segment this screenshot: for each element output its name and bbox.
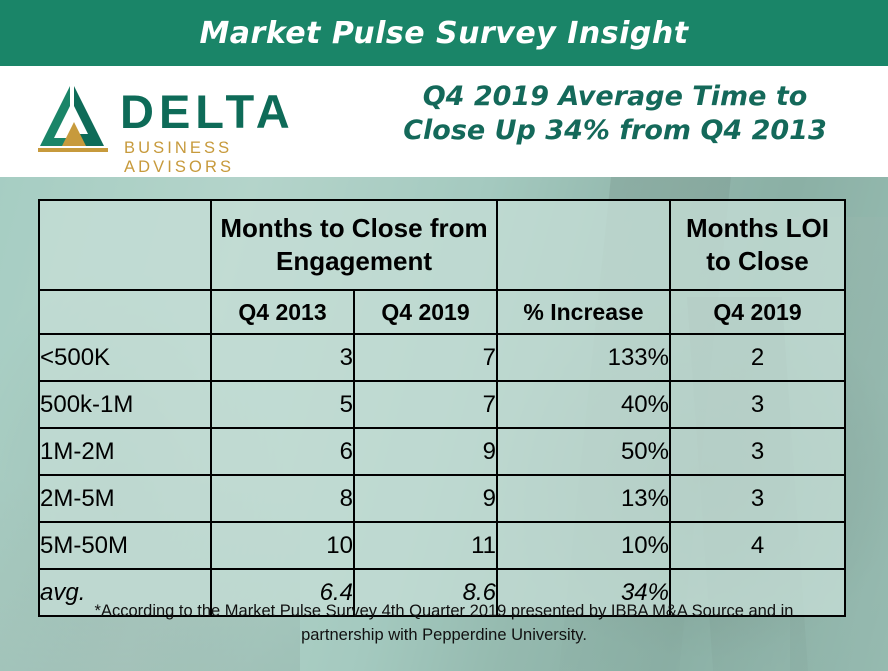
logo-wordmark: DELTA	[120, 84, 295, 139]
cell-q4-2013: 6	[211, 428, 354, 475]
cell-q4-2019: 11	[354, 522, 497, 569]
table-row: <500K 3 7 133% 2	[39, 334, 845, 381]
footnote-line-2: partnership with Pepperdine University.	[38, 624, 850, 648]
table-group-header-row: Months to Close from Engagement Months L…	[39, 200, 845, 290]
cell-pct-increase: 50%	[497, 428, 670, 475]
table-sub-header-row: Q4 2013 Q4 2019 % Increase Q4 2019	[39, 290, 845, 334]
table-row: 500k-1M 5 7 40% 3	[39, 381, 845, 428]
headline-line-1: Q4 2019 Average Time to	[360, 80, 870, 114]
delta-triangle-logo-icon	[36, 82, 110, 152]
sub-header-pct-increase: % Increase	[497, 290, 670, 334]
page-title: Q4 2019 Average Time to Close Up 34% fro…	[360, 80, 870, 148]
cell-loi-q4-2019: 2	[670, 334, 845, 381]
row-label: 1M-2M	[39, 428, 211, 475]
cell-q4-2019: 7	[354, 381, 497, 428]
group-header-pct-blank	[497, 200, 670, 290]
group-header-months-to-close: Months to Close from Engagement	[211, 200, 497, 290]
cell-q4-2013: 5	[211, 381, 354, 428]
group-header-blank	[39, 200, 211, 290]
table-row: 2M-5M 8 9 13% 3	[39, 475, 845, 522]
content-area: Months to Close from Engagement Months L…	[0, 177, 888, 671]
cell-pct-increase: 40%	[497, 381, 670, 428]
table-row: 5M-50M 10 11 10% 4	[39, 522, 845, 569]
sub-header-blank	[39, 290, 211, 334]
table-row: 1M-2M 6 9 50% 3	[39, 428, 845, 475]
cell-q4-2013: 8	[211, 475, 354, 522]
headline-line-2: Close Up 34% from Q4 2013	[360, 114, 870, 148]
row-label: 5M-50M	[39, 522, 211, 569]
brand-logo: DELTA BUSINESS ADVISORS	[32, 76, 342, 168]
cell-loi-q4-2019: 3	[670, 381, 845, 428]
logo-tagline: BUSINESS ADVISORS	[124, 139, 342, 177]
banner-title: Market Pulse Survey Insight	[199, 16, 688, 51]
sub-header-loi-q4-2019: Q4 2019	[670, 290, 845, 334]
footnote: *According to the Market Pulse Survey 4t…	[38, 600, 850, 648]
row-label: 500k-1M	[39, 381, 211, 428]
sub-header-q4-2019: Q4 2019	[354, 290, 497, 334]
top-banner: Market Pulse Survey Insight	[0, 0, 888, 66]
header: DELTA BUSINESS ADVISORS Q4 2019 Average …	[0, 66, 888, 177]
cell-loi-q4-2019: 3	[670, 428, 845, 475]
cell-loi-q4-2019: 3	[670, 475, 845, 522]
cell-q4-2013: 10	[211, 522, 354, 569]
cell-loi-q4-2019: 4	[670, 522, 845, 569]
cell-q4-2019: 9	[354, 475, 497, 522]
sub-header-q4-2013: Q4 2013	[211, 290, 354, 334]
cell-q4-2019: 9	[354, 428, 497, 475]
insight-table-container: Months to Close from Engagement Months L…	[38, 199, 844, 617]
cell-q4-2019: 7	[354, 334, 497, 381]
cell-q4-2013: 3	[211, 334, 354, 381]
cell-pct-increase: 13%	[497, 475, 670, 522]
footnote-line-1: *According to the Market Pulse Survey 4t…	[38, 600, 850, 624]
poster-page: Market Pulse Survey Insight DELTA BUSINE…	[0, 0, 888, 671]
cell-pct-increase: 10%	[497, 522, 670, 569]
row-label: <500K	[39, 334, 211, 381]
cell-pct-increase: 133%	[497, 334, 670, 381]
insight-table: Months to Close from Engagement Months L…	[38, 199, 846, 617]
row-label: 2M-5M	[39, 475, 211, 522]
group-header-months-loi: Months LOI to Close	[670, 200, 845, 290]
